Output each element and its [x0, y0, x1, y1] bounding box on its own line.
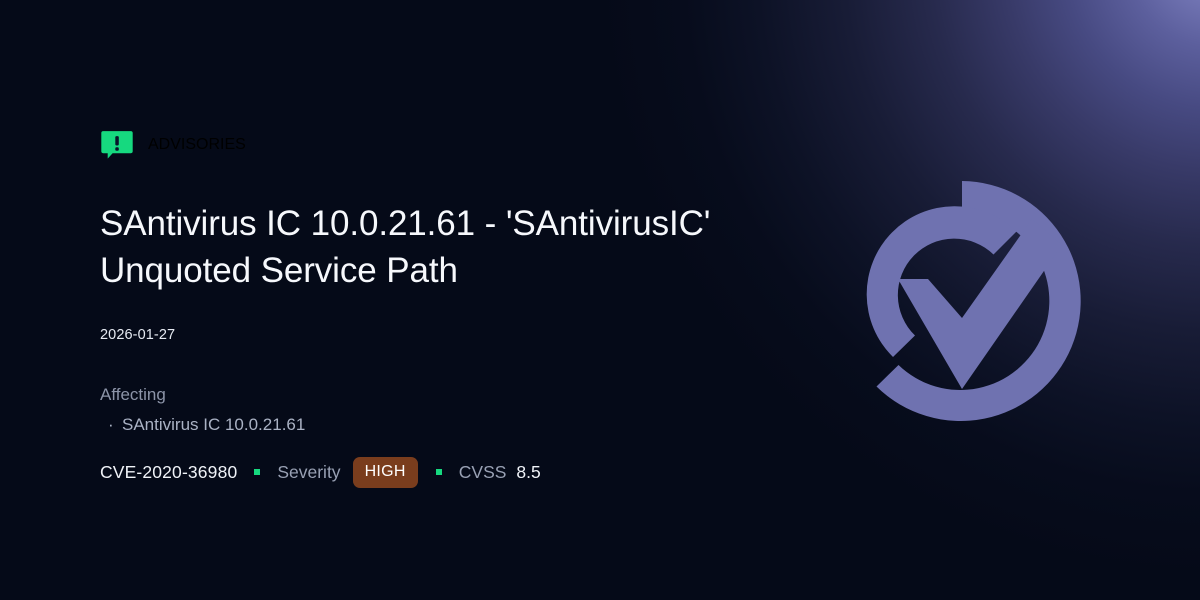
advisories-label: ADVISORIES [148, 136, 246, 154]
cvss-label: CVSS [459, 462, 507, 483]
page-title: SAntivirus IC 10.0.21.61 - 'SAntivirusIC… [100, 200, 790, 295]
cve-id[interactable]: CVE-2020-36980 [100, 462, 237, 483]
affecting-section: Affecting SAntivirus IC 10.0.21.61 [100, 382, 305, 437]
status-badge: HIGH [353, 457, 418, 488]
publish-date: 2026-01-27 [100, 327, 175, 343]
affected-product: SAntivirus IC 10.0.21.61 [122, 415, 305, 434]
advisory-alert-bubble-icon [100, 128, 134, 162]
separator-dot-icon [436, 469, 442, 475]
affecting-label: Affecting [100, 382, 305, 408]
affecting-list: SAntivirus IC 10.0.21.61 [100, 412, 305, 438]
advisories-eyebrow: ADVISORIES [100, 128, 246, 162]
advisory-card: ADVISORIES SAntivirus IC 10.0.21.61 - 'S… [0, 0, 1200, 600]
shielded-check-circle-logo [836, 175, 1088, 427]
cvss-score: 8.5 [516, 462, 540, 483]
advisory-meta-row: CVE-2020-36980 Severity HIGH CVSS 8.5 [100, 456, 541, 488]
list-item: SAntivirus IC 10.0.21.61 [100, 412, 305, 438]
severity-label: Severity [277, 462, 340, 483]
separator-dot-icon [254, 469, 260, 475]
